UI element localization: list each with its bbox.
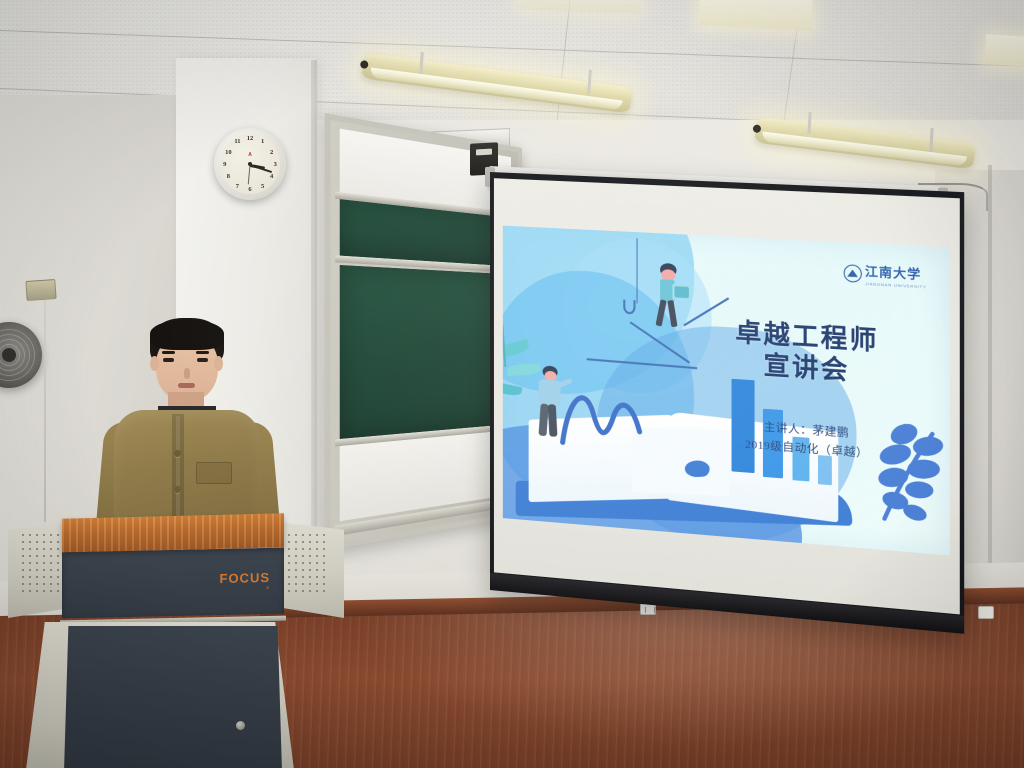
- clock-numeral: 12: [245, 135, 255, 142]
- projection-screen[interactable]: 江南大学 JIANGNAN UNIVERSITY 卓越工程师 宣讲会 主讲人：茅…: [490, 172, 964, 634]
- wall-junction-box: [25, 279, 56, 301]
- clock-numeral: 7: [232, 183, 242, 190]
- presenter-leg: [548, 405, 558, 437]
- clock-numeral: 11: [232, 138, 242, 145]
- speaker-chest-pocket: [196, 462, 232, 484]
- logo-name-en: JIANGNAN UNIVERSITY: [865, 281, 927, 290]
- speaker-jacket-button: [174, 486, 181, 493]
- lectern-podium: FOCUS S: [8, 508, 338, 768]
- podium-brand-name: FOCUS: [220, 570, 271, 586]
- clock-face: A 12 1 2 3 4 5 6 7 8 9 10 11: [220, 134, 280, 194]
- clock-numeral: 8: [223, 173, 233, 180]
- light-end-cap: [752, 124, 761, 133]
- podium-lock: [236, 721, 245, 730]
- clock-numeral: 3: [270, 161, 280, 168]
- screen-surface: 江南大学 JIANGNAN UNIVERSITY 卓越工程师 宣讲会 主讲人：茅…: [494, 178, 960, 614]
- clock-numeral: 5: [258, 183, 268, 190]
- podium-brand-sub: S: [220, 585, 271, 591]
- lecture-hall-photo: A 12 1 2 3 4 5 6 7 8 9 10 11: [0, 0, 1024, 768]
- crane-cable: [636, 238, 638, 303]
- speaker-fringe: [150, 320, 224, 350]
- podium-wood-top: [62, 513, 284, 552]
- speaker-ear: [150, 356, 159, 371]
- speaker-eye: [197, 358, 208, 362]
- clock-numeral: 9: [220, 161, 230, 168]
- worker-leg: [667, 300, 677, 327]
- clock-numeral: 10: [223, 149, 233, 156]
- clock-numeral: 6: [245, 186, 255, 193]
- speaker-eyebrow: [196, 351, 209, 354]
- speaker-person: [92, 310, 282, 540]
- blackboard-panel-lower: [340, 265, 511, 439]
- logo-text-wrap: 江南大学 JIANGNAN UNIVERSITY: [865, 262, 927, 289]
- clock-numeral: 4: [267, 173, 277, 180]
- speaker-eye: [163, 358, 174, 362]
- speaker-eyebrow: [162, 351, 175, 354]
- worker-leg: [655, 300, 666, 327]
- podium-front-panel: FOCUS S: [62, 548, 284, 619]
- logo-mark-icon: [843, 264, 861, 283]
- wall-outlet-right: [978, 606, 994, 619]
- university-logo: 江南大学 JIANGNAN UNIVERSITY: [843, 261, 926, 289]
- carried-box-inner: [674, 287, 688, 299]
- recessed-ceiling-light: [984, 34, 1024, 68]
- clock-brand: A: [248, 152, 252, 158]
- clock-numeral: 2: [267, 149, 277, 156]
- speaker-mouth: [178, 383, 195, 388]
- wall-clock: A 12 1 2 3 4 5 6 7 8 9 10 11: [214, 128, 286, 200]
- presenter-figure-illustration: [537, 365, 583, 449]
- clock-numeral: 1: [258, 138, 268, 145]
- logo-name-cn: 江南大学: [865, 264, 921, 282]
- podium-brand-logo: FOCUS S: [220, 570, 271, 591]
- speaker-nose: [184, 368, 190, 379]
- presentation-slide: 江南大学 JIANGNAN UNIVERSITY 卓越工程师 宣讲会 主讲人：茅…: [503, 226, 950, 555]
- hanging-cable: [44, 300, 46, 522]
- podium-base-panel: [64, 626, 282, 768]
- wood-grain: [62, 513, 284, 552]
- clock-second-hand: [248, 164, 251, 184]
- speaker-jacket-button: [174, 450, 181, 457]
- speaker-ear: [214, 356, 223, 371]
- light-end-cap: [360, 60, 369, 69]
- clock-center-pin: [248, 162, 252, 166]
